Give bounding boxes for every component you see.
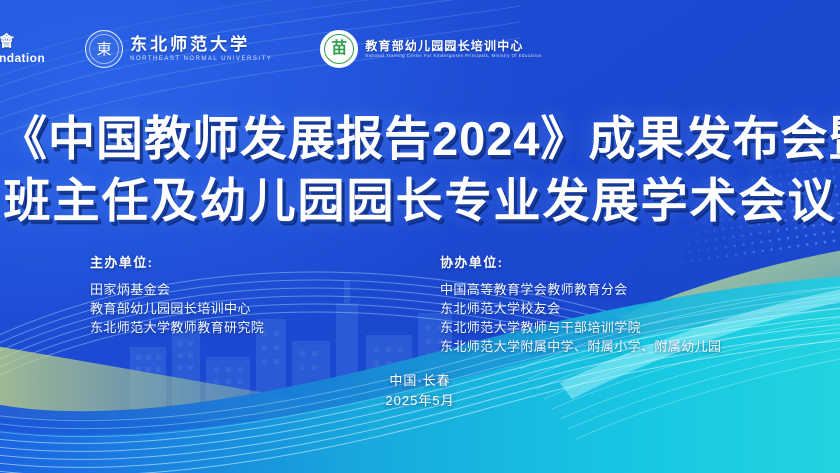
host-item: 教育部幼儿园园长培训中心: [90, 299, 340, 318]
logo-northeast-normal-university: 東 东北师范大学 NORTHEAST NORMAL UNIVERSITY: [85, 30, 272, 68]
conference-poster: 田 會 ndation 東 东北师范大学 NORTHEAST NORMAL UN…: [0, 0, 840, 473]
logo-en-name: NORTHEAST NORMAL UNIVERSITY: [130, 56, 272, 62]
title-line-1: 《中国教师发展报告2024》成果发布会暨: [0, 108, 840, 170]
title-line-2: 班主任及幼儿园园长专业发展学术会议: [0, 170, 840, 232]
coorganizer-item: 东北师范大学附属中学、附属小学、附属幼儿园: [440, 337, 750, 356]
logo-national-training-center: 苗 教育部幼儿园园长培训中心 National Training Center …: [320, 30, 542, 68]
venue-date: 2025年5月: [0, 391, 840, 411]
coorganizer-item: 东北师范大学教师与干部培训学院: [440, 318, 750, 337]
logo-en-name: ndation: [0, 52, 45, 64]
host-item: 东北师范大学教师教育研究院: [90, 318, 340, 337]
host-heading: 主办单位:: [90, 252, 340, 271]
university-seal-glyph: 東: [97, 42, 112, 57]
logo-cn-name: 教育部幼儿园园长培训中心: [365, 40, 542, 52]
host-organizers-column: 主办单位: 田家炳基金会 教育部幼儿园园长培训中心 东北师范大学教师教育研究院: [90, 252, 340, 356]
training-center-seal-glyph: 苗: [331, 41, 347, 57]
university-seal-icon: 東: [85, 30, 123, 68]
coorganizer-item: 东北师范大学校友会: [440, 299, 750, 318]
coorganizer-item: 中国高等教育学会教师教育分会: [440, 280, 750, 299]
venue-block: 中国·长春 2025年5月: [0, 371, 840, 411]
logo-tin-ka-ping-foundation: 田 會 ndation: [0, 30, 45, 68]
coorganizer-heading: 协办单位:: [440, 252, 750, 271]
training-center-seal-icon: 苗: [320, 30, 358, 68]
logo-en-name: National Training Center For Kindergarte…: [365, 54, 542, 58]
logo-bar: 田 會 ndation 東 东北师范大学 NORTHEAST NORMAL UN…: [0, 26, 840, 72]
organizers-section: 主办单位: 田家炳基金会 教育部幼儿园园长培训中心 东北师范大学教师教育研究院 …: [0, 252, 840, 356]
coorganizers-column: 协办单位: 中国高等教育学会教师教育分会 东北师范大学校友会 东北师范大学教师与…: [440, 252, 750, 356]
logo-cn-name: 东北师范大学: [130, 36, 272, 54]
host-item: 田家炳基金会: [90, 280, 340, 299]
poster-title: 《中国教师发展报告2024》成果发布会暨 班主任及幼儿园园长专业发展学术会议: [0, 108, 840, 232]
venue-location: 中国·长春: [0, 371, 840, 391]
logo-cn-name: 會: [0, 34, 45, 50]
